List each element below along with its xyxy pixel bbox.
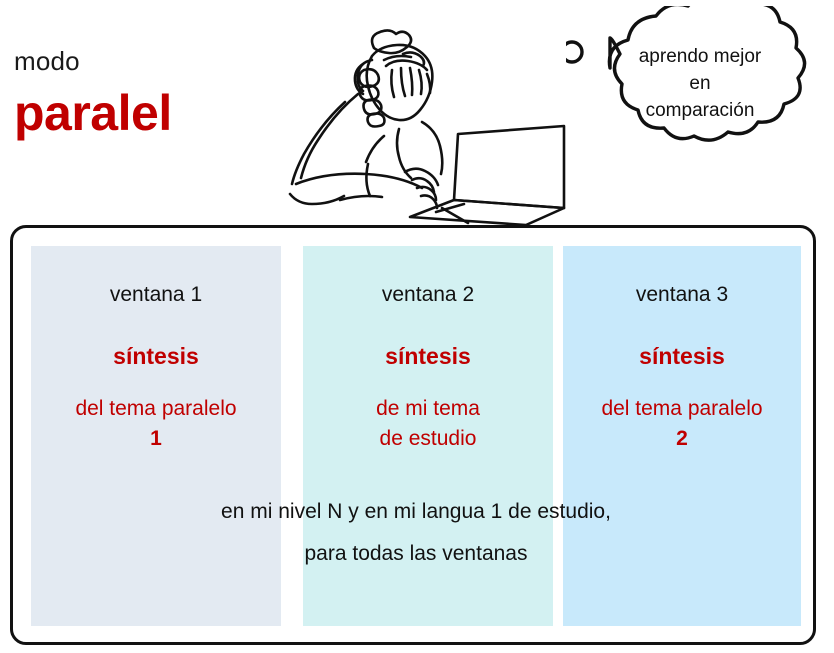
window-column-1-body: del tema paralelo 1 xyxy=(31,394,281,454)
window-column-2-body-line-2: de estudio xyxy=(303,424,553,454)
window-column-1-title: síntesis xyxy=(31,345,281,368)
window-column-1-body-line-2: 1 xyxy=(31,424,281,454)
window-column-3-body: del tema paralelo 2 xyxy=(563,394,801,454)
page-title: paralel xyxy=(14,88,172,138)
window-column-1-body-line-1: del tema paralelo xyxy=(75,397,236,420)
window-column-3-body-line-1: del tema paralelo xyxy=(601,397,762,420)
person-studying-at-laptop-icon xyxy=(268,4,568,225)
windows-panel: ventana 1 síntesis del tema paralelo 1 v… xyxy=(10,225,816,645)
mode-label: modo xyxy=(14,48,80,74)
window-column-3-title: síntesis xyxy=(563,345,801,368)
window-column-3-body-line-2: 2 xyxy=(563,424,801,454)
window-column-3-heading: ventana 3 xyxy=(563,284,801,305)
window-column-2-body: de mi tema de estudio xyxy=(303,394,553,454)
window-column-2-body-line-1: de mi tema xyxy=(376,397,480,420)
panel-footnote: en mi nivel N y en mi langua 1 de estudi… xyxy=(31,491,801,575)
thought-bubble-line-3: comparación xyxy=(646,100,755,121)
window-column-1-heading: ventana 1 xyxy=(31,284,281,305)
panel-footnote-line-1: en mi nivel N y en mi langua 1 de estudi… xyxy=(31,491,801,533)
window-column-2-heading: ventana 2 xyxy=(303,284,553,305)
panel-footnote-line-2: para todas las ventanas xyxy=(31,533,801,575)
thought-bubble-text: aprendo mejor en comparación xyxy=(612,43,788,124)
thought-bubble-line-1: aprendo mejor xyxy=(639,46,762,67)
window-column-2-title: síntesis xyxy=(303,345,553,368)
thought-bubble-line-2: en xyxy=(689,73,710,94)
header: modo paralel xyxy=(0,0,834,225)
thought-cloud-icon: aprendo mejor en comparación xyxy=(566,6,834,174)
